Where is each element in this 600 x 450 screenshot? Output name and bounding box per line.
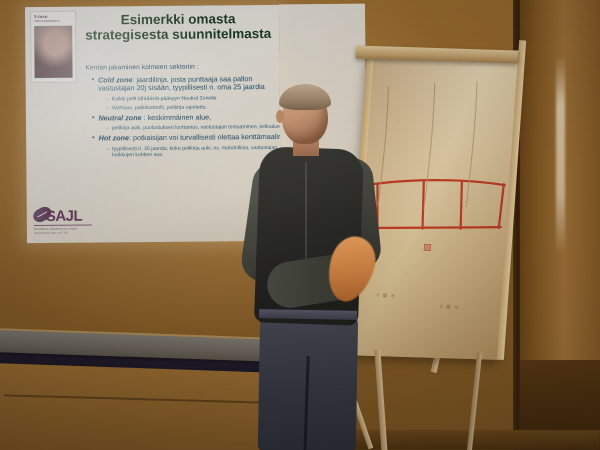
course-badge-subtitle: valmentajatutkinto xyxy=(31,19,75,23)
bullet-marker-icon: ▪ xyxy=(92,135,95,143)
bullet-marker-icon: ▪ xyxy=(92,114,95,122)
subbullet-cold-2-text: Varmuus, pallokontrolli, pelikirja rajoi… xyxy=(112,104,207,112)
course-badge-photo xyxy=(34,26,72,78)
presenter xyxy=(243,88,383,450)
presenter-hair xyxy=(279,84,331,110)
bullet-neutral-zone-text: Neutral zone : keskimmäinen alue, xyxy=(98,113,211,122)
bullet-marker-icon: ▪ xyxy=(92,77,95,94)
slide-lead: Kentän jakaminen kolmeen sektoriin : xyxy=(85,63,281,72)
screenshot-scene: 3-taso valmentajatutkinto Esimerkki omas… xyxy=(0,0,600,450)
dash-icon: – xyxy=(106,126,109,133)
slide-title: Esimerkki omasta strategisesta suunnitel… xyxy=(83,11,273,43)
dash-icon: – xyxy=(106,105,109,112)
dash-icon: – xyxy=(106,96,109,103)
course-badge: 3-taso valmentajatutkinto xyxy=(30,11,77,83)
sajl-logo: SAJL SUOMEN AMERIKKALAISEN JALKAPALLON L… xyxy=(32,203,94,238)
wall-light-strip xyxy=(556,55,565,255)
bullet-neutral-zone-body: : keskimmäinen alue, xyxy=(142,112,212,122)
bullet-neutral-zone-term: Neutral zone xyxy=(98,113,141,122)
presenter-belt xyxy=(259,309,357,320)
bullet-hot-zone-term: Hot zone xyxy=(99,133,129,142)
counter-body xyxy=(0,360,266,450)
subbullet-cold-1-text: Kaikki pelit tähtäävät pääsyyn Neutral Z… xyxy=(112,95,217,103)
presenter-ear xyxy=(276,110,284,123)
sajl-logo-tagline: SUOMEN AMERIKKALAISEN JALKAPALLON LIITTO xyxy=(34,227,94,236)
sajl-logo-text: SAJL xyxy=(46,208,82,225)
dash-icon: – xyxy=(106,146,109,159)
flipchart-foot-mark-right: e ▩ ⊕ xyxy=(440,304,460,311)
